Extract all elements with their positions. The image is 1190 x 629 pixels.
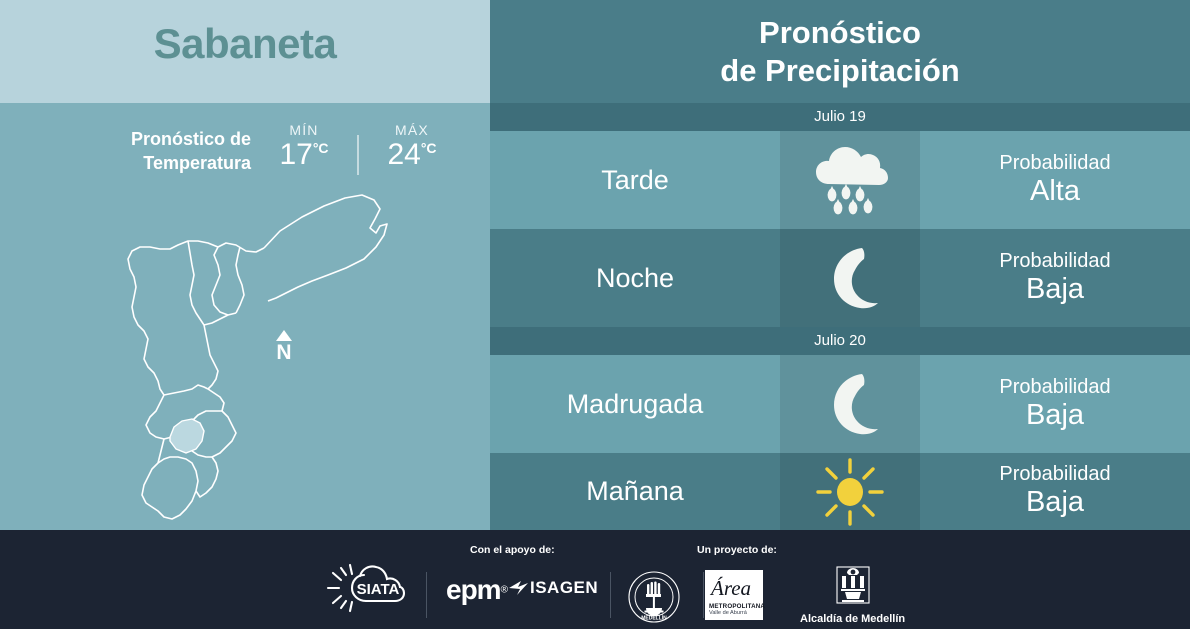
forecast-row: Madrugada Probabilidad Baja bbox=[490, 355, 1190, 453]
siata-logo: SIATA bbox=[326, 562, 426, 619]
area-metropolitana-sub2: Valle de Aburrá bbox=[709, 610, 747, 616]
isagen-logo: ISAGEN bbox=[508, 578, 598, 598]
universidad-medellin-seal: MEDELLÍN bbox=[627, 570, 681, 624]
area-metropolitana-box: Área METROPOLITANA Valle de Aburrá bbox=[705, 570, 763, 620]
max-temperature: MÁX 24°C bbox=[381, 122, 443, 171]
probability-value: Baja bbox=[920, 399, 1190, 432]
project-caption: Un proyecto de: bbox=[697, 544, 777, 556]
probability-label: Probabilidad bbox=[920, 152, 1190, 175]
min-temperature: MÍN 17°C bbox=[273, 122, 335, 171]
max-temperature-label: MÁX bbox=[381, 122, 443, 138]
alcaldia-medellin-logo: Alcaldía de Medellín bbox=[800, 566, 905, 625]
precipitation-panel: Pronóstico de Precipitación Julio 19 Tar… bbox=[490, 0, 1190, 530]
temperature-title-line2: Temperatura bbox=[143, 153, 251, 173]
probability-label: Probabilidad bbox=[920, 376, 1190, 399]
footer-divider bbox=[703, 572, 704, 618]
registered-mark-icon: ® bbox=[501, 585, 508, 596]
isagen-logo-text: ISAGEN bbox=[530, 578, 598, 597]
epm-logo: epm® bbox=[446, 574, 508, 606]
forecast-probability: Probabilidad Alta bbox=[920, 152, 1190, 208]
map-svg bbox=[40, 175, 440, 525]
sun-icon bbox=[780, 453, 920, 530]
probability-label: Probabilidad bbox=[920, 463, 1190, 486]
footer-divider bbox=[426, 572, 427, 618]
date-bar-julio-20: Julio 20 bbox=[490, 327, 1190, 355]
north-arrow-icon bbox=[276, 330, 292, 341]
temperature-title-line1: Pronóstico de bbox=[131, 129, 251, 149]
alcaldia-medellin-crest bbox=[835, 566, 871, 606]
temperature-panel: Sabaneta Pronóstico de Temperatura MÍN 1… bbox=[0, 0, 490, 530]
universidad-medellin-text: MEDELLÍN bbox=[641, 614, 667, 622]
forecast-period: Mañana bbox=[490, 476, 780, 507]
siata-logo-text: SIATA bbox=[357, 581, 400, 598]
forecast-probability: Probabilidad Baja bbox=[920, 376, 1190, 432]
forecast-row: Noche Probabilidad Baja bbox=[490, 229, 1190, 327]
probability-value: Baja bbox=[920, 486, 1190, 519]
area-metropolitana-sub1: METROPOLITANA bbox=[709, 603, 765, 610]
temperature-divider bbox=[357, 135, 359, 175]
siata-logo-glyph: SIATA bbox=[326, 562, 426, 614]
max-temperature-value: 24°C bbox=[381, 139, 443, 171]
forecast-probability: Probabilidad Baja bbox=[920, 250, 1190, 306]
probability-value: Alta bbox=[920, 175, 1190, 208]
forecast-row: Mañana Probabili bbox=[490, 453, 1190, 530]
footer-divider bbox=[610, 572, 611, 618]
infographic-root: Sabaneta Pronóstico de Temperatura MÍN 1… bbox=[0, 0, 1190, 620]
footer: Con el apoyo de: Un proyecto de: SIAT bbox=[0, 530, 1190, 620]
date-bar-julio-19: Julio 19 bbox=[490, 103, 1190, 131]
sun-glyph bbox=[815, 457, 885, 527]
forecast-row: Tarde Probabilidad Alta bbox=[490, 131, 1190, 229]
valle-de-aburra-map bbox=[40, 175, 440, 525]
moon-glyph bbox=[818, 370, 882, 438]
forecast-probability: Probabilidad Baja bbox=[920, 463, 1190, 519]
temperature-summary: Pronóstico de Temperatura MÍN 17°C MÁX 2… bbox=[85, 122, 443, 176]
forecast-period: Tarde bbox=[490, 165, 780, 196]
forecast-title-line2: de Precipitación bbox=[720, 52, 959, 89]
universidad-medellin-logo: MEDELLÍN bbox=[627, 570, 681, 629]
min-temperature-label: MÍN bbox=[273, 122, 335, 138]
max-temperature-unit: °C bbox=[421, 140, 437, 156]
area-metropolitana-logo: Área METROPOLITANA Valle de Aburrá bbox=[705, 570, 763, 620]
area-metropolitana-script: Área bbox=[711, 576, 751, 601]
page-title: Sabaneta bbox=[0, 20, 490, 68]
moon-glyph bbox=[818, 244, 882, 312]
min-temperature-value: 17°C bbox=[273, 139, 335, 171]
temperature-title: Pronóstico de Temperatura bbox=[85, 122, 251, 176]
probability-label: Probabilidad bbox=[920, 250, 1190, 273]
rain-cloud-icon bbox=[780, 131, 920, 229]
moon-icon bbox=[780, 355, 920, 453]
forecast-period: Noche bbox=[490, 263, 780, 294]
isagen-logo-mark bbox=[508, 578, 530, 598]
epm-logo-text: epm bbox=[446, 574, 501, 605]
forecast-period: Madrugada bbox=[490, 389, 780, 420]
north-label: N bbox=[276, 342, 292, 363]
rain-cloud-glyph bbox=[811, 144, 889, 216]
alcaldia-medellin-text: Alcaldía de Medellín bbox=[800, 613, 905, 625]
north-indicator: N bbox=[276, 330, 292, 363]
moon-icon bbox=[780, 229, 920, 327]
forecast-title-line1: Pronóstico bbox=[759, 14, 921, 51]
probability-value: Baja bbox=[920, 273, 1190, 306]
forecast-header: Pronóstico de Precipitación bbox=[490, 0, 1190, 103]
support-caption: Con el apoyo de: bbox=[470, 544, 555, 556]
min-temperature-unit: °C bbox=[313, 140, 329, 156]
